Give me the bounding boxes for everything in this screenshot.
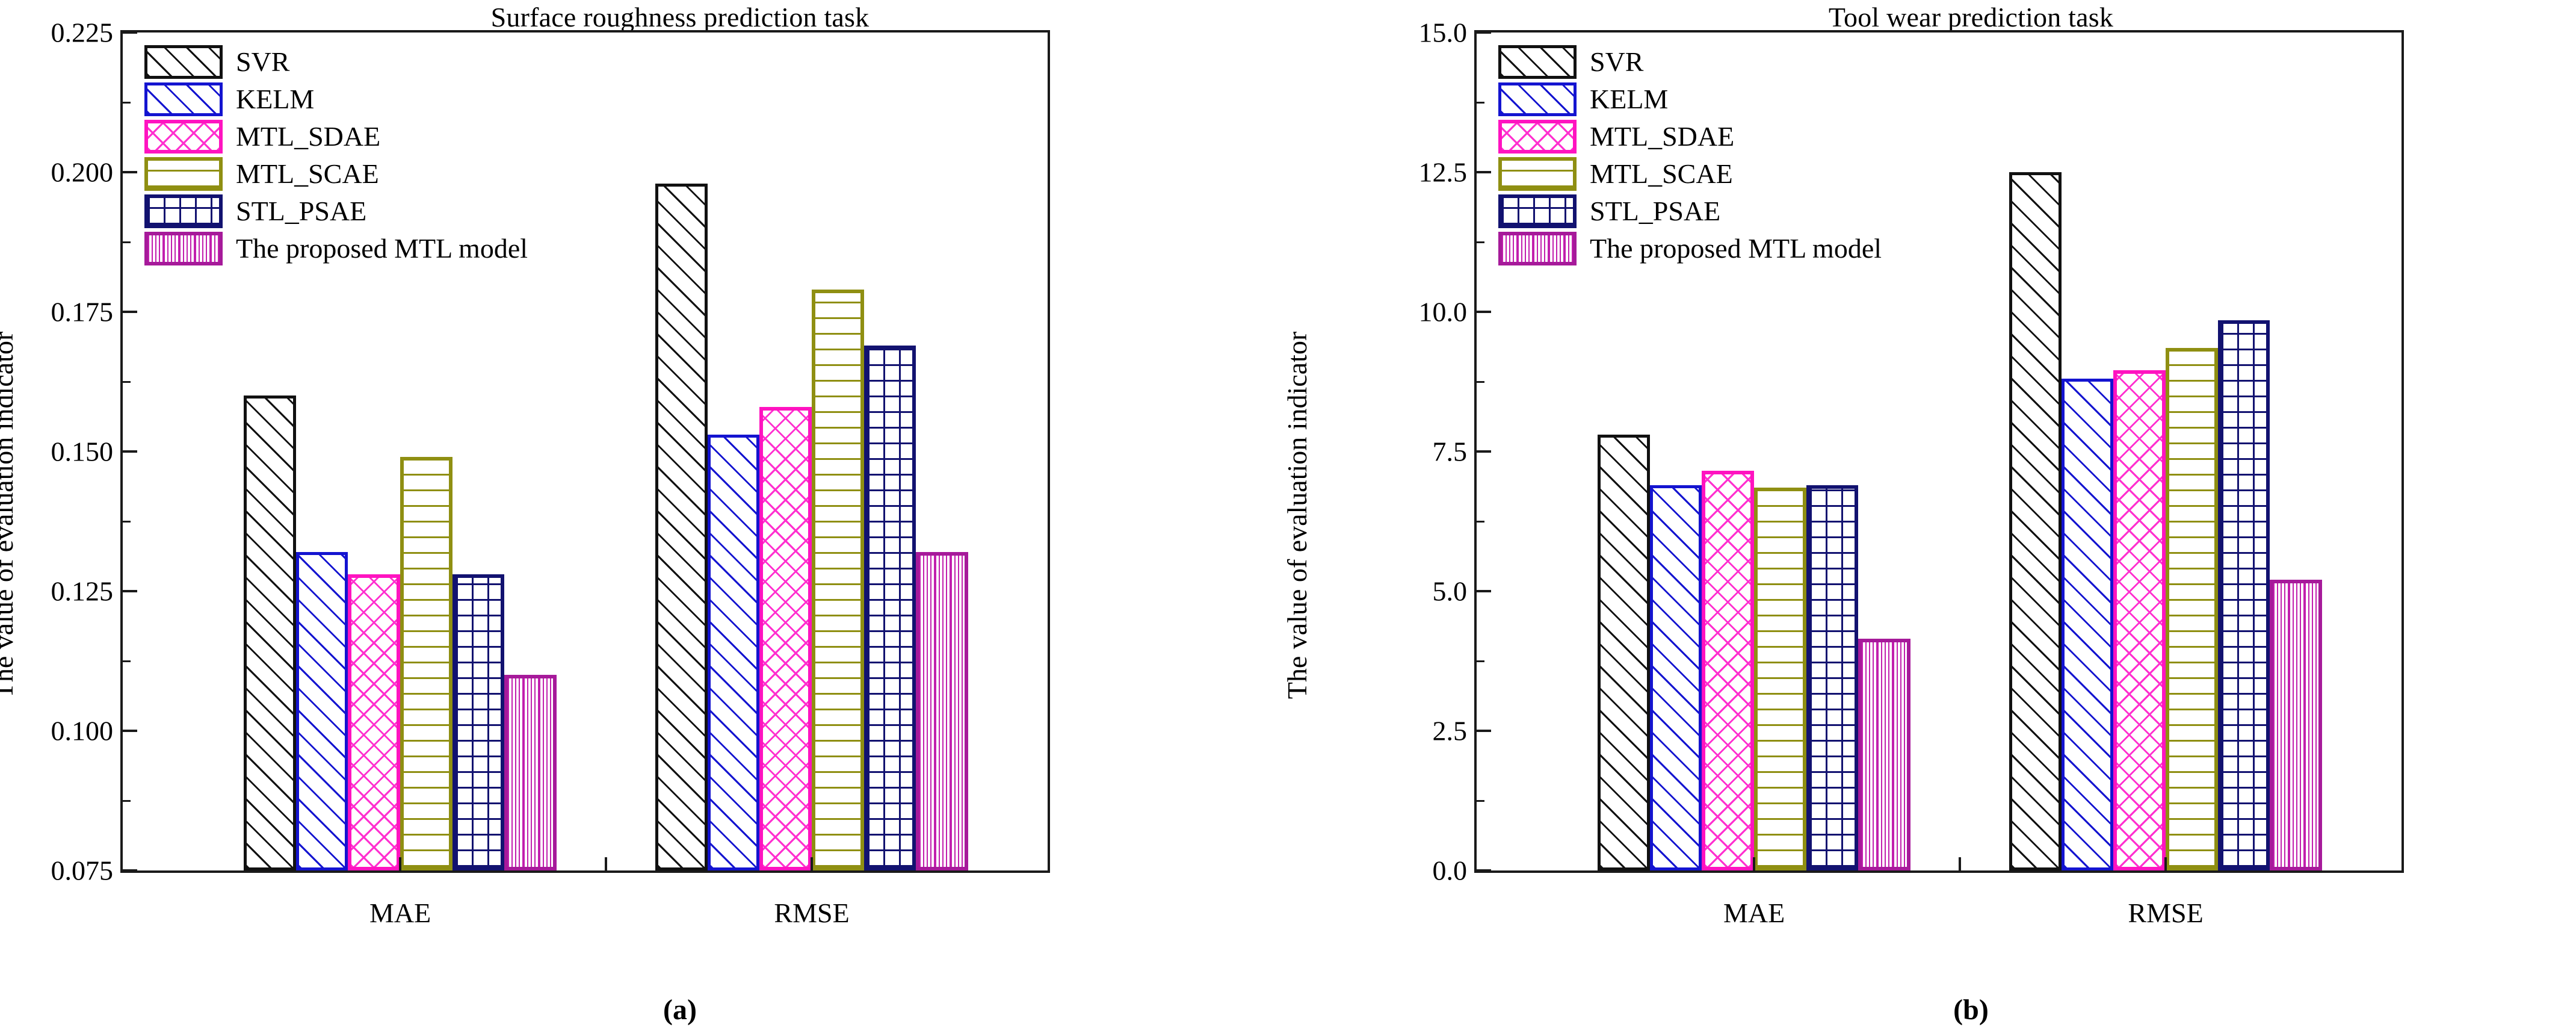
legend-swatch-icon xyxy=(1498,120,1577,154)
bar-stl-psae-mae xyxy=(452,574,505,870)
y-tick-minor xyxy=(122,660,131,662)
legend-label: STL_PSAE xyxy=(1590,197,1720,225)
legend-swatch-icon xyxy=(1498,194,1577,228)
bar-mtl-scae-mae xyxy=(1754,488,1806,870)
bar-stl-psae-mae xyxy=(1806,485,1859,870)
y-tick-label: 0.150 xyxy=(51,436,114,468)
x-tick xyxy=(1959,857,1961,872)
y-tick-label: 15.0 xyxy=(1419,17,1468,49)
x-tick-label-mae: MAE xyxy=(369,897,431,929)
y-tick-minor xyxy=(122,800,131,802)
bar-mtl-scae-mae xyxy=(400,457,452,870)
legend-item-mtl-sdae[interactable]: MTL_SDAE xyxy=(144,118,528,155)
legend-swatch-icon xyxy=(1498,82,1577,116)
legend-a: SVRKELMMTL_SDAEMTL_SCAESTL_PSAEThe propo… xyxy=(144,43,528,267)
legend-label: The proposed MTL model xyxy=(1590,235,1882,262)
y-tick-minor xyxy=(1475,381,1484,383)
bar-mtl-sdae-rmse xyxy=(759,407,812,870)
legend-swatch-icon xyxy=(144,82,223,116)
bar-mtl-scae-rmse xyxy=(2166,348,2218,870)
legend-label: SVR xyxy=(1590,48,1643,76)
chart-title-a: Surface roughness prediction task xyxy=(0,1,1270,33)
panel-a: Surface roughness prediction task The va… xyxy=(0,0,1270,1030)
legend-label: KELM xyxy=(1590,85,1668,113)
y-tick-minor xyxy=(1475,241,1484,243)
bar-kelm-mae xyxy=(1650,485,1702,870)
y-tick-minor xyxy=(122,521,131,523)
subfigure-caption-b: (b) xyxy=(1294,993,2576,1026)
y-axis-label-a: The value of evaluation indicator xyxy=(0,331,19,699)
legend-item-mtl-sdae[interactable]: MTL_SDAE xyxy=(1498,118,1882,155)
legend-label: MTL_SCAE xyxy=(236,160,379,188)
y-tick-major xyxy=(122,311,137,313)
bar-svr-rmse xyxy=(2009,172,2062,870)
y-tick-label: 0.0 xyxy=(1433,855,1468,887)
y-tick-label: 0.125 xyxy=(51,575,114,607)
x-tick xyxy=(605,857,607,872)
x-tick-label-mae: MAE xyxy=(1723,897,1785,929)
y-tick-major xyxy=(122,590,137,592)
y-tick-major xyxy=(122,730,137,732)
y-tick-label: 10.0 xyxy=(1419,296,1468,328)
legend-swatch-icon xyxy=(1498,45,1577,79)
bar-mtl-sdae-mae xyxy=(1702,471,1754,870)
legend-swatch-icon xyxy=(144,157,223,191)
y-tick-label: 0.225 xyxy=(51,17,114,49)
bar-kelm-rmse xyxy=(708,435,760,870)
legend-label: MTL_SCAE xyxy=(1590,160,1733,188)
y-tick-minor xyxy=(1475,521,1484,523)
legend-label: SVR xyxy=(236,48,289,76)
y-tick-label: 7.5 xyxy=(1433,436,1468,468)
y-tick-label: 12.5 xyxy=(1419,157,1468,188)
bar-kelm-mae xyxy=(296,552,348,870)
legend-swatch-icon xyxy=(144,194,223,228)
legend-item-the-proposed-mtl-model[interactable]: The proposed MTL model xyxy=(144,230,528,267)
legend-item-svr[interactable]: SVR xyxy=(1498,43,1882,81)
legend-swatch-icon xyxy=(1498,157,1577,191)
y-tick-major xyxy=(1475,730,1491,732)
y-tick-label: 2.5 xyxy=(1433,715,1468,747)
legend-label: MTL_SDAE xyxy=(236,123,380,150)
bar-mtl-sdae-mae xyxy=(348,574,400,870)
y-tick-minor xyxy=(1475,800,1484,802)
y-tick-label: 0.200 xyxy=(51,157,114,188)
x-tick xyxy=(1753,857,1755,872)
plot-area-a: SVRKELMMTL_SDAEMTL_SCAESTL_PSAEThe propo… xyxy=(120,30,1050,873)
legend-item-kelm[interactable]: KELM xyxy=(1498,81,1882,118)
x-tick-label-rmse: RMSE xyxy=(2128,897,2203,929)
legend-label: KELM xyxy=(236,85,314,113)
x-tick-label-rmse: RMSE xyxy=(774,897,849,929)
bar-stl-psae-rmse xyxy=(864,346,916,870)
x-tick xyxy=(399,857,401,872)
y-tick-minor xyxy=(122,241,131,243)
bar-mtl-sdae-rmse xyxy=(2113,370,2166,870)
legend-swatch-icon xyxy=(1498,232,1577,265)
legend-swatch-icon xyxy=(144,120,223,154)
y-tick-label: 0.100 xyxy=(51,715,114,747)
bar-svr-rmse xyxy=(655,184,708,870)
legend-b: SVRKELMMTL_SDAEMTL_SCAESTL_PSAEThe propo… xyxy=(1498,43,1882,267)
bar-the-proposed-mtl-model-mae xyxy=(504,675,557,870)
y-tick-minor xyxy=(1475,102,1484,104)
bar-svr-mae xyxy=(244,396,296,870)
y-tick-label: 0.075 xyxy=(51,855,114,887)
y-tick-label: 0.175 xyxy=(51,296,114,328)
legend-swatch-icon xyxy=(144,45,223,79)
legend-item-stl-psae[interactable]: STL_PSAE xyxy=(1498,193,1882,230)
y-tick-major xyxy=(122,31,137,34)
y-tick-major xyxy=(122,869,137,872)
x-tick xyxy=(811,857,813,872)
y-tick-minor xyxy=(1475,660,1484,662)
bar-svr-mae xyxy=(1598,435,1650,870)
y-tick-major xyxy=(122,450,137,453)
y-tick-major xyxy=(122,171,137,173)
legend-label: The proposed MTL model xyxy=(236,235,528,262)
bar-kelm-rmse xyxy=(2062,379,2114,870)
legend-item-mtl-scae[interactable]: MTL_SCAE xyxy=(1498,155,1882,193)
legend-item-kelm[interactable]: KELM xyxy=(144,81,528,118)
y-tick-label: 5.0 xyxy=(1433,575,1468,607)
y-tick-major xyxy=(1475,311,1491,313)
legend-item-the-proposed-mtl-model[interactable]: The proposed MTL model xyxy=(1498,230,1882,267)
bar-the-proposed-mtl-model-rmse xyxy=(2270,580,2322,870)
y-tick-major xyxy=(1475,869,1491,872)
x-tick xyxy=(2164,857,2167,872)
y-tick-major xyxy=(1475,450,1491,453)
legend-item-stl-psae[interactable]: STL_PSAE xyxy=(144,193,528,230)
subfigure-caption-a: (a) xyxy=(0,993,1270,1026)
y-tick-minor xyxy=(122,381,131,383)
panel-b: Tool wear prediction task The value of e… xyxy=(1294,0,2576,1030)
legend-label: STL_PSAE xyxy=(236,197,366,225)
y-axis-label-b: The value of evaluation indicator xyxy=(1281,331,1313,699)
y-tick-major xyxy=(1475,171,1491,173)
legend-label: MTL_SDAE xyxy=(1590,123,1734,150)
legend-item-svr[interactable]: SVR xyxy=(144,43,528,81)
bar-the-proposed-mtl-model-rmse xyxy=(916,552,968,870)
y-tick-major xyxy=(1475,31,1491,34)
figure-comparison-charts: Surface roughness prediction task The va… xyxy=(0,0,2576,1030)
bar-mtl-scae-rmse xyxy=(812,290,864,870)
legend-item-mtl-scae[interactable]: MTL_SCAE xyxy=(144,155,528,193)
bar-stl-psae-rmse xyxy=(2218,320,2270,870)
legend-swatch-icon xyxy=(144,232,223,265)
chart-title-b: Tool wear prediction task xyxy=(1294,1,2576,33)
bar-the-proposed-mtl-model-mae xyxy=(1858,639,1910,870)
y-tick-major xyxy=(1475,590,1491,592)
plot-area-b: SVRKELMMTL_SDAEMTL_SCAESTL_PSAEThe propo… xyxy=(1474,30,2404,873)
y-tick-minor xyxy=(122,102,131,104)
